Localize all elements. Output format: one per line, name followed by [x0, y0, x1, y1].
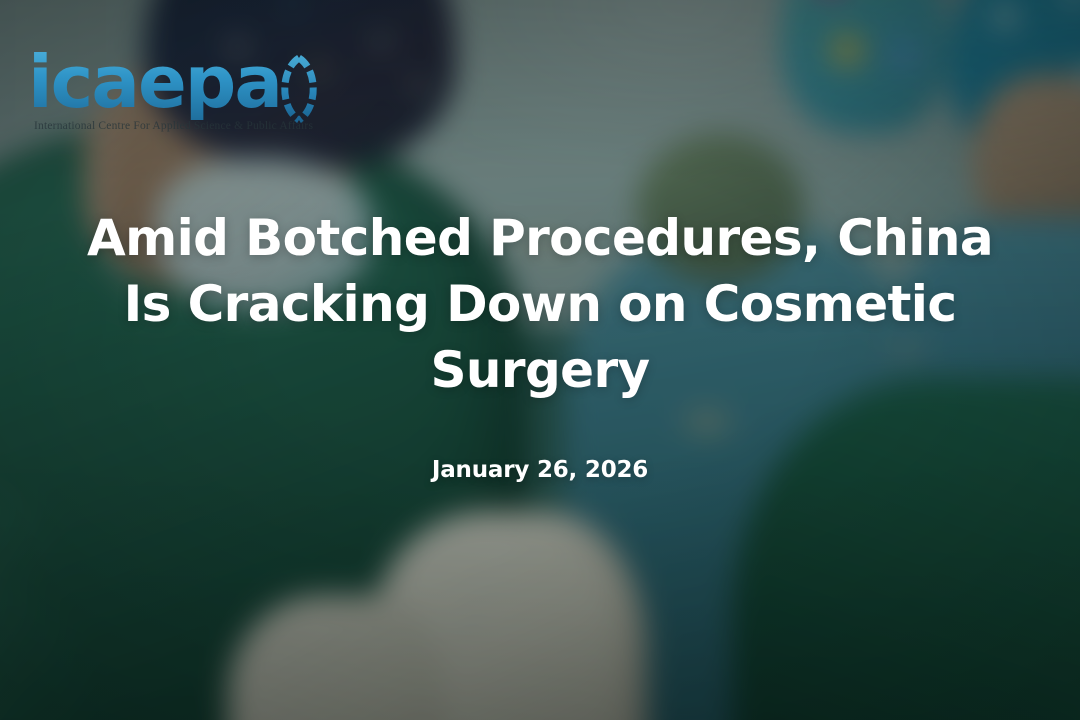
page-title: Amid Botched Procedures, China Is Cracki…	[40, 205, 1040, 403]
background-cap-rainbow	[780, 0, 948, 133]
site-logo[interactable]: icaepa International Centre For Applied …	[28, 44, 328, 140]
headline-line-1: Amid Botched Procedures, China	[40, 205, 1040, 271]
publish-date: January 26, 2026	[40, 457, 1040, 483]
logo-tagline: International Centre For Applied Science…	[34, 120, 324, 132]
article-banner: icaepa International Centre For Applied …	[0, 0, 1080, 720]
headline-line-3: Surgery	[40, 337, 1040, 403]
headline-line-2: Is Cracking Down on Cosmetic	[40, 271, 1040, 337]
globe-grid-icon	[260, 50, 338, 128]
logo-wordmark: icaepa	[28, 44, 281, 120]
article-header-block: Amid Botched Procedures, China Is Cracki…	[0, 205, 1080, 483]
